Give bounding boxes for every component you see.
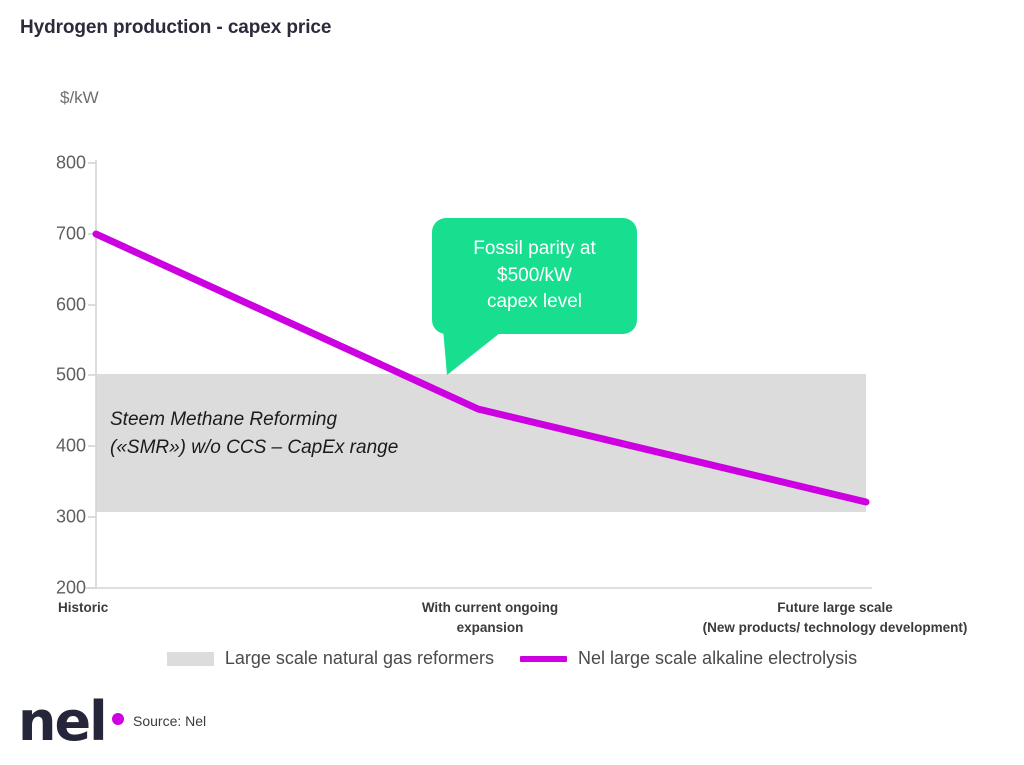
y-tick-800: 800 xyxy=(32,153,86,174)
y-tick-200: 200 xyxy=(32,578,86,599)
y-tick-700: 700 xyxy=(32,224,86,245)
chart-legend: Large scale natural gas reformers Nel la… xyxy=(0,648,1024,669)
y-axis-ticks xyxy=(88,163,96,588)
fossil-parity-callout-text: Fossil parity at $500/kW capex level xyxy=(473,236,595,317)
legend-swatch-band-icon xyxy=(167,652,214,666)
fossil-parity-callout: Fossil parity at $500/kW capex level xyxy=(432,218,637,334)
y-tick-500: 500 xyxy=(32,365,86,386)
y-tick-400: 400 xyxy=(32,436,86,457)
legend-item-alkaline-electrolysis[interactable]: Nel large scale alkaline electrolysis xyxy=(520,648,857,669)
x-tick-current-expansion: With current ongoing expansion xyxy=(380,598,600,639)
legend-swatch-line-icon xyxy=(520,656,567,662)
legend-label-alkaline-electrolysis: Nel large scale alkaline electrolysis xyxy=(578,648,857,669)
y-tick-600: 600 xyxy=(32,295,86,316)
source-note: Source: Nel xyxy=(133,713,206,729)
legend-label-natural-gas-reformers: Large scale natural gas reformers xyxy=(225,648,494,669)
y-tick-300: 300 xyxy=(32,507,86,528)
x-tick-historic: Historic xyxy=(58,598,108,618)
footer: nel Source: Nel xyxy=(0,695,1024,765)
callout-tail-icon xyxy=(443,329,513,375)
nel-logo-dot-icon xyxy=(112,713,124,725)
nel-wordmark: nel xyxy=(18,695,106,749)
smr-band-label: Steem Methane Reforming («SMR») w/o CCS … xyxy=(110,406,398,461)
x-tick-future-large-scale: Future large scale (New products/ techno… xyxy=(650,598,1020,639)
nel-logo: nel xyxy=(18,695,124,749)
legend-item-natural-gas-reformers[interactable]: Large scale natural gas reformers xyxy=(167,648,494,669)
